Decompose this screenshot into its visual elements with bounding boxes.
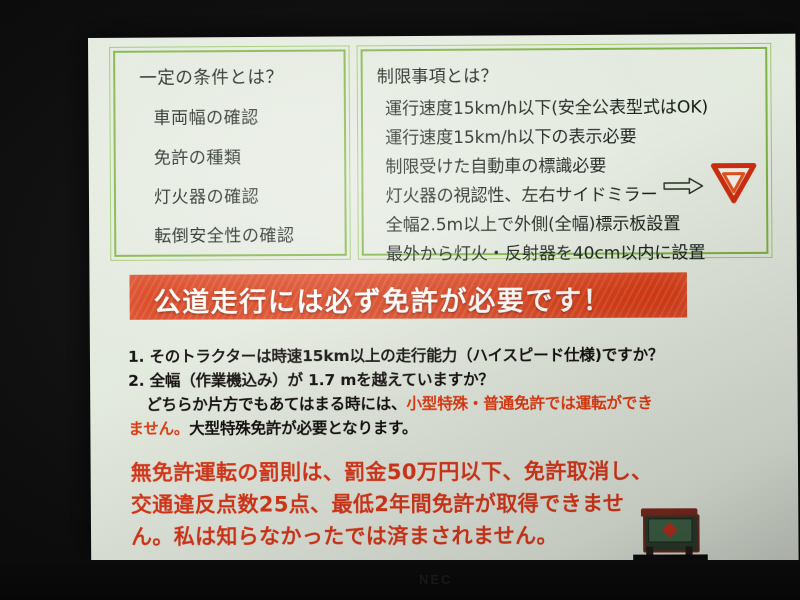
restrictions-item-reflector-distance: 最外から灯火・反射器を40cm以内に設置: [386, 238, 706, 265]
monitor-bezel: [0, 560, 800, 600]
right-arrow-outline-icon: [663, 177, 703, 195]
restrictions-item-speed-limit: 運行速度15km/h以下(安全公表型式はOK): [385, 92, 708, 119]
restrictions-item-lights-mirrors: 灯火器の視認性、左右サイドミラー: [385, 180, 657, 206]
note-line-1: どちらか片方でもあてはまる時には、小型特殊・普通免許では運転ができ: [146, 391, 653, 415]
question-item-1: 1. そのトラクターは時速15km以上の走行能力（ハイスピード仕様)ですか？: [128, 343, 664, 367]
screenshot-stage: 一定の条件とは？ 車両幅の確認 免許の種類 灯火器の確認 転倒安全性の確認 制限…: [0, 0, 800, 600]
note-line-2-plain: 大型特殊免許が必要となります。: [189, 419, 417, 438]
conditions-item-license-type: 免許の種類: [154, 143, 242, 168]
restrictions-item-width-board: 全幅2.5m以上で外側(全幅)標示板設置: [386, 209, 681, 235]
penalty-warning-line-1: 無免許運転の罰則は、罰金50万円以下、免許取消し、: [131, 455, 653, 487]
conditions-item-lighting: 灯火器の確認: [154, 182, 259, 208]
restrictions-box: 制限事項とは？ 運行速度15km/h以下(安全公表型式はOK) 運行速度15km…: [361, 47, 769, 256]
conditions-item-rollover-safety: 転倒安全性の確認: [154, 221, 294, 247]
penalty-warning-line-3: ん。私は知らなかったでは済まされません。: [131, 520, 558, 551]
nec-brand-logo: NEC: [419, 572, 452, 587]
license-required-banner: 公道走行には必ず免許が必要です！: [129, 272, 687, 320]
note-line-2-highlight: ません。: [128, 420, 189, 438]
projected-slide: 一定の条件とは？ 車両幅の確認 免許の種類 灯火器の確認 転倒安全性の確認 制限…: [88, 34, 799, 562]
yield-triangle-sign-icon: [710, 161, 757, 203]
question-item-2: 2. 全幅（作業機込み）が 1.7 mを越えていますか？: [128, 367, 494, 390]
penalty-warning-line-2: 交通違反点数25点、最低2年間免許が取得できませ: [131, 487, 625, 518]
note-line-2: ません。大型特殊免許が必要となります。: [128, 416, 417, 439]
restrictions-heading: 制限事項とは？: [377, 62, 498, 88]
restrictions-item-speed-display: 運行速度15km/h以下の表示必要: [385, 122, 636, 148]
note-line-1-highlight: 小型特殊・普通免許では運転ができ: [406, 394, 652, 413]
restrictions-item-vehicle-marking: 制限受けた自動車の標識必要: [385, 151, 606, 177]
tractor-photo: [633, 506, 708, 562]
conditions-heading: 一定の条件とは？: [139, 64, 283, 90]
license-required-banner-text: 公道走行には必ず免許が必要です！: [154, 278, 688, 319]
conditions-box: 一定の条件とは？ 車両幅の確認 免許の種類 灯火器の確認 転倒安全性の確認: [113, 49, 347, 256]
note-line-1-plain: どちらか片方でもあてはまる時には、: [146, 395, 406, 414]
conditions-item-vehicle-width: 車両幅の確認: [153, 103, 258, 129]
